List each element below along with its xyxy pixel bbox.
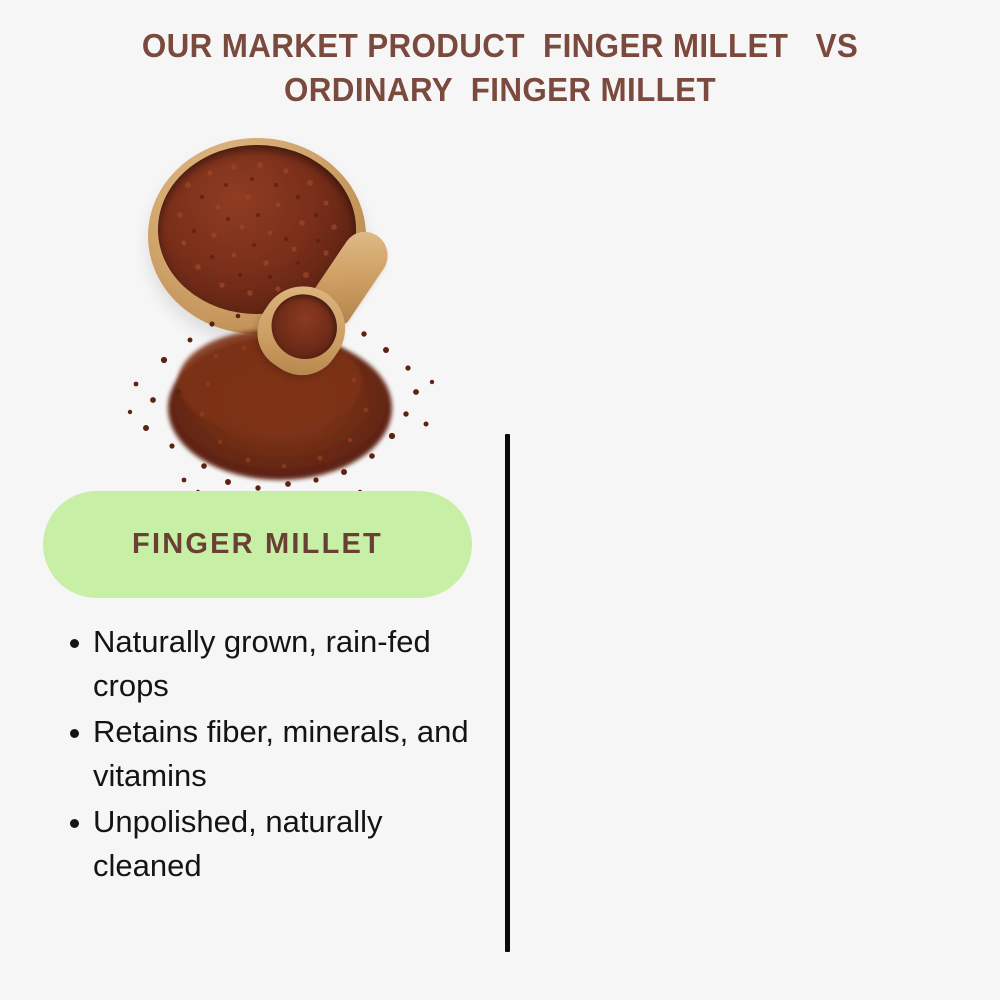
badge-finger-millet: FINGER MILLET	[43, 491, 472, 598]
right-comparison-column: ORDINARY FINGER MILLET May Often needs f…	[506, 0, 1000, 1000]
finger-millet-benefits-list: Naturally grown, rain-fed crops Retains …	[60, 620, 492, 890]
badge-finger-millet-label: FINGER MILLET	[132, 528, 383, 561]
wooden-bowl-finger-millet-photo	[110, 128, 450, 498]
list-item: Retains fiber, minerals, and vitamins	[60, 710, 492, 798]
left-comparison-column: FINGER MILLET Naturally grown, rain-fed …	[0, 0, 506, 1000]
list-item: Unpolished, naturally cleaned	[60, 800, 492, 888]
list-item: Naturally grown, rain-fed crops	[60, 620, 492, 708]
